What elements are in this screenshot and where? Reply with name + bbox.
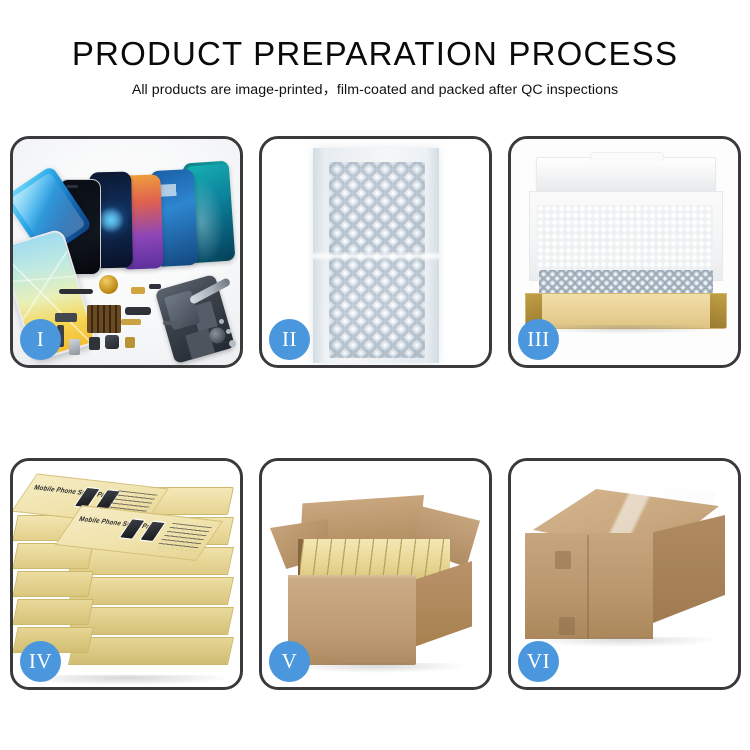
spare-part-screws <box>229 340 236 347</box>
page-subtitle: All products are image-printed，film-coat… <box>0 81 750 100</box>
step-panel-1[interactable]: I <box>10 136 243 368</box>
spare-part-ribbon <box>125 307 151 315</box>
step-badge-2: II <box>269 319 310 360</box>
step-panel-2[interactable]: II <box>259 136 492 368</box>
spare-part-shield <box>125 337 135 348</box>
spare-part-gold-contact <box>121 319 141 325</box>
open-shipping-carton <box>274 495 478 669</box>
spare-part-bracket <box>55 313 77 322</box>
product-preparation-process-page: PRODUCT PREPARATION PROCESS All products… <box>0 0 750 750</box>
box-label-spec-lines-front <box>157 523 212 551</box>
bubble-wrap-pouch <box>313 148 439 363</box>
step-badge-4: IV <box>20 641 61 682</box>
carton-hand-hole-lower <box>559 617 575 635</box>
mailer-front-panel <box>525 293 727 329</box>
spare-part-button <box>89 337 100 350</box>
sealed-carton-front-panel <box>525 533 653 639</box>
step-panel-4[interactable]: Mobile Phone Spare Parts Mobile Phone Sp… <box>10 458 243 690</box>
step-panel-3[interactable]: III <box>508 136 741 368</box>
carton-shadow <box>290 663 466 673</box>
foam-liner <box>537 205 713 271</box>
spare-part-sim-tray <box>69 339 80 355</box>
sealed-shipping-carton <box>525 489 725 667</box>
pouch-sheen <box>313 251 439 261</box>
step-panel-6[interactable]: VI <box>508 458 741 690</box>
header: PRODUCT PREPARATION PROCESS All products… <box>0 34 750 100</box>
sealed-carton-shadow <box>531 637 717 647</box>
mailer-shadow <box>533 325 717 334</box>
spare-part-chip-array <box>87 305 121 333</box>
step-badge-5: V <box>269 641 310 682</box>
carton-hand-hole-upper <box>555 551 571 569</box>
spare-part-vibrator-coil <box>99 275 118 294</box>
page-title: PRODUCT PREPARATION PROCESS <box>0 34 750 74</box>
spare-part-flex-cable <box>59 289 93 294</box>
spare-part-connector <box>131 287 145 294</box>
open-mailer-box <box>525 157 725 337</box>
stack-box-left-4 <box>13 599 94 625</box>
process-steps-grid: I II <box>10 136 741 690</box>
spare-part-antenna <box>163 321 181 325</box>
step-panel-5[interactable]: V <box>259 458 492 690</box>
step-badge-6: VI <box>518 641 559 682</box>
stack-box-right-6 <box>68 637 234 665</box>
spare-part-clip <box>149 284 161 289</box>
step-badge-3: III <box>518 319 559 360</box>
step-badge-1: I <box>20 319 61 360</box>
sealed-carton-seam <box>587 535 589 639</box>
stack-box-left-3 <box>13 571 94 597</box>
sealed-carton-right-panel <box>653 515 725 623</box>
spare-part-speaker <box>105 335 119 349</box>
